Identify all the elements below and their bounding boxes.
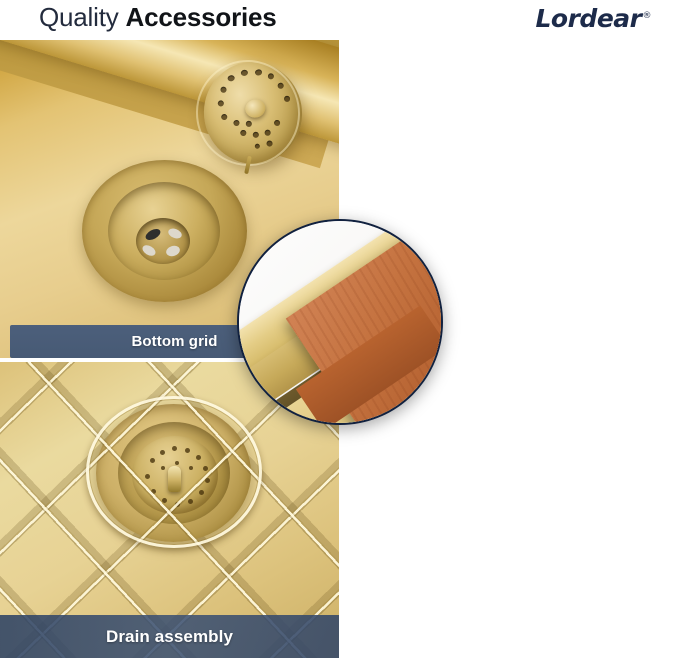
grid-drain-ring xyxy=(86,396,262,548)
brand-logo: Lordear® xyxy=(536,4,652,33)
page-title-light: Quality xyxy=(39,2,126,32)
detail-close-up-photo xyxy=(239,221,441,423)
drain-opening xyxy=(136,218,190,264)
page-title: Quality Accessories xyxy=(39,2,277,33)
brand-logo-text: Lordear xyxy=(536,4,642,33)
label-drain-assembly: Drain assembly xyxy=(0,615,339,658)
product-feature-collage: Quality Accessories Lordear® xyxy=(0,0,679,658)
center-detail-circle[interactable] xyxy=(237,219,443,425)
registered-trademark-icon: ® xyxy=(643,11,652,21)
label-line-1: Drain assembly xyxy=(106,627,233,647)
page-title-bold: Accessories xyxy=(126,2,277,32)
header-bar: Quality Accessories Lordear® xyxy=(0,0,679,40)
label-line-1: Bottom grid xyxy=(131,333,217,350)
